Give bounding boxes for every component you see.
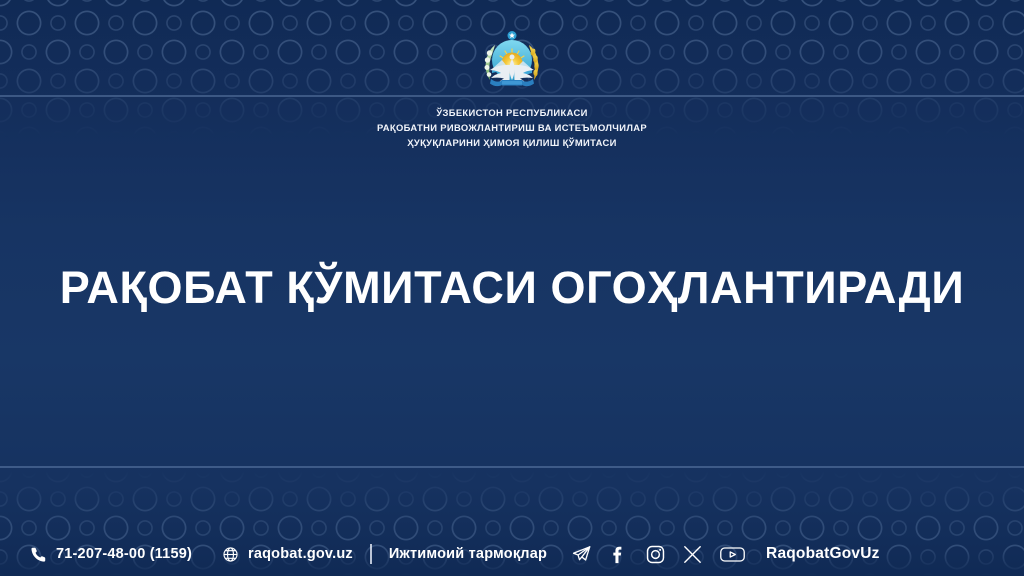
phone-contact[interactable]: 71-207-48-00 (1159) (30, 546, 192, 563)
phone-icon (30, 546, 47, 563)
x-twitter-icon[interactable] (682, 544, 703, 565)
presentation-slide: ЎЗБЕКИСТОН РЕСПУБЛИКАСИ РАҚОБАТНИ РИВОЖЛ… (0, 0, 1024, 576)
youtube-icon[interactable] (719, 544, 740, 565)
social-networks-label: Ижтимоий тармоқлар (389, 546, 547, 562)
slide-footer: 71-207-48-00 (1159) raqobat.gov.uz Ижтим… (0, 532, 1024, 576)
org-line-3: ҲУҚУҚЛАРИНИ ҲИМОЯ ҚИЛИШ ҚЎМИТАСИ (377, 136, 647, 151)
globe-icon (222, 546, 239, 563)
slide-header: ЎЗБЕКИСТОН РЕСПУБЛИКАСИ РАҚОБАТНИ РИВОЖЛ… (0, 30, 1024, 151)
organization-name: ЎЗБЕКИСТОН РЕСПУБЛИКАСИ РАҚОБАТНИ РИВОЖЛ… (377, 106, 647, 151)
website-link[interactable]: raqobat.gov.uz (222, 546, 353, 563)
phone-number: 71-207-48-00 (1159) (56, 546, 192, 562)
instagram-icon[interactable] (645, 544, 666, 565)
website-url: raqobat.gov.uz (248, 546, 353, 562)
org-line-1: ЎЗБЕКИСТОН РЕСПУБЛИКАСИ (377, 106, 647, 121)
footer-separator (370, 544, 372, 564)
social-handle[interactable]: RaqobatGovUz (766, 545, 880, 563)
uzbekistan-state-emblem-icon (477, 30, 547, 92)
slide-title: РАҚОБАТ ҚЎМИТАСИ ОГОҲЛАНТИРАДИ (0, 262, 1024, 314)
facebook-icon[interactable] (608, 544, 629, 565)
org-line-2: РАҚОБАТНИ РИВОЖЛАНТИРИШ ВА ИСТЕЪМОЛЧИЛАР (377, 121, 647, 136)
bottom-divider-rule (0, 466, 1024, 468)
telegram-icon[interactable] (571, 544, 592, 565)
